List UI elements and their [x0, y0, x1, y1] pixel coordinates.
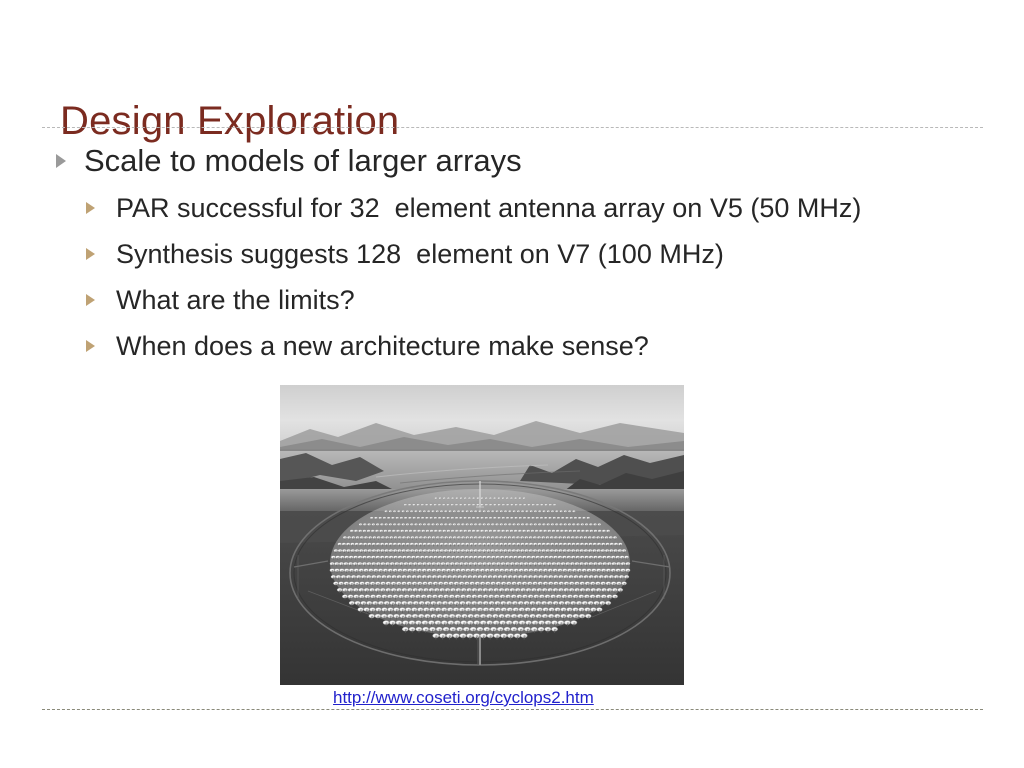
source-url-link[interactable]: http://www.coseti.org/cyclops2.htm: [333, 688, 594, 708]
list-item[interactable]: Scale to models of larger arrays: [56, 142, 996, 190]
bullet-list: Scale to models of larger arrays PAR suc…: [56, 142, 996, 374]
list-item-label: Scale to models of larger arrays: [84, 142, 522, 180]
bullet-triangle-icon: [86, 202, 95, 214]
list-item[interactable]: When does a new architecture make sense?: [86, 328, 996, 374]
list-item-label: Synthesis suggests 128 element on V7 (10…: [116, 236, 724, 272]
bullet-triangle-icon: [86, 294, 95, 306]
list-item[interactable]: What are the limits?: [86, 282, 996, 328]
footer-divider: [42, 709, 983, 710]
cyclops-antenna-array-image: [280, 385, 684, 685]
bullet-triangle-icon: [56, 154, 66, 168]
bullet-triangle-icon: [86, 248, 95, 260]
list-item[interactable]: Synthesis suggests 128 element on V7 (10…: [86, 236, 996, 282]
list-item-label: What are the limits?: [116, 282, 355, 318]
slide-canvas: Design Exploration Scale to models of la…: [0, 0, 1024, 768]
title-divider: [42, 127, 983, 128]
list-item[interactable]: PAR successful for 32 element antenna ar…: [86, 190, 996, 236]
cyclops-artwork-svg: [280, 385, 684, 685]
list-item-label: When does a new architecture make sense?: [116, 328, 649, 364]
page-title: Design Exploration: [60, 97, 960, 145]
bullet-triangle-icon: [86, 340, 95, 352]
list-item-label: PAR successful for 32 element antenna ar…: [116, 190, 861, 226]
